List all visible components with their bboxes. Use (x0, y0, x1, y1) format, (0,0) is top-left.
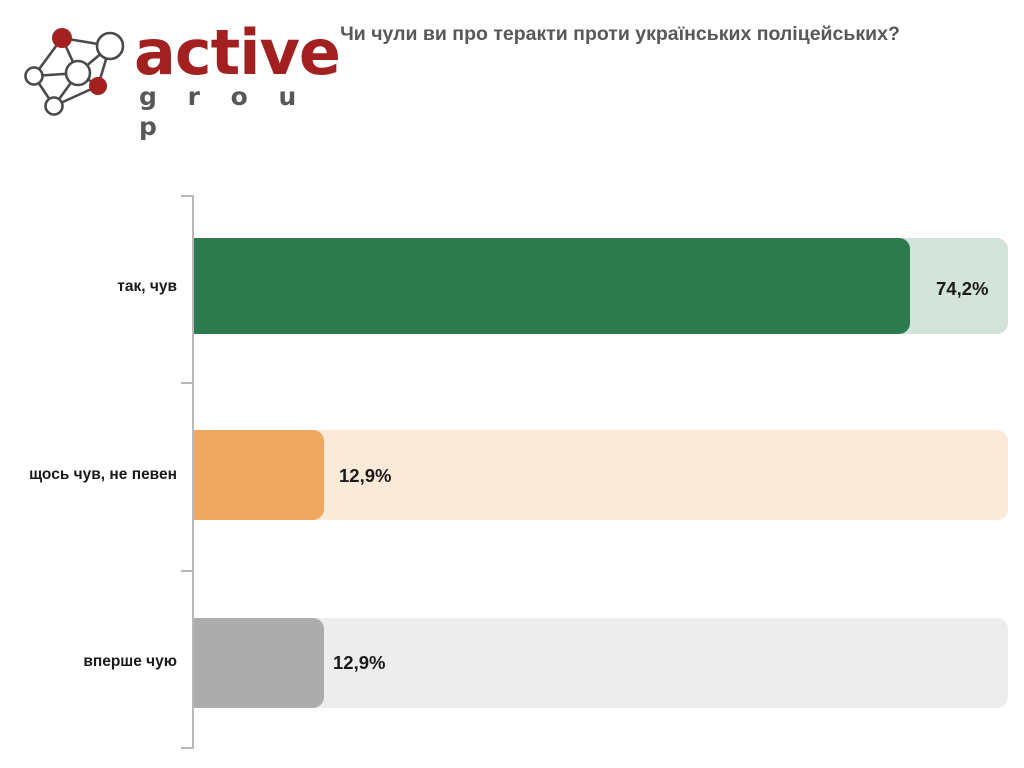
bar-value-label: 74,2% (936, 278, 988, 300)
bar-value-label: 12,9% (339, 465, 391, 487)
axis-tick (181, 570, 193, 572)
category-label: щось чув, не певен (0, 466, 177, 484)
category-label: так, чув (0, 278, 177, 296)
bar-value-label: 12,9% (333, 652, 385, 674)
axis-tick (181, 382, 193, 384)
bar-segment[interactable] (194, 430, 324, 520)
axis-tick (181, 747, 193, 749)
axis-tick (181, 195, 193, 197)
category-label: вперше чую (0, 653, 177, 671)
bar-segment[interactable] (194, 238, 910, 334)
bar-segment[interactable] (194, 618, 324, 708)
bar-chart-plot-area: так, чув 74,2% щось чув, не певен 12,9% … (0, 0, 1024, 768)
